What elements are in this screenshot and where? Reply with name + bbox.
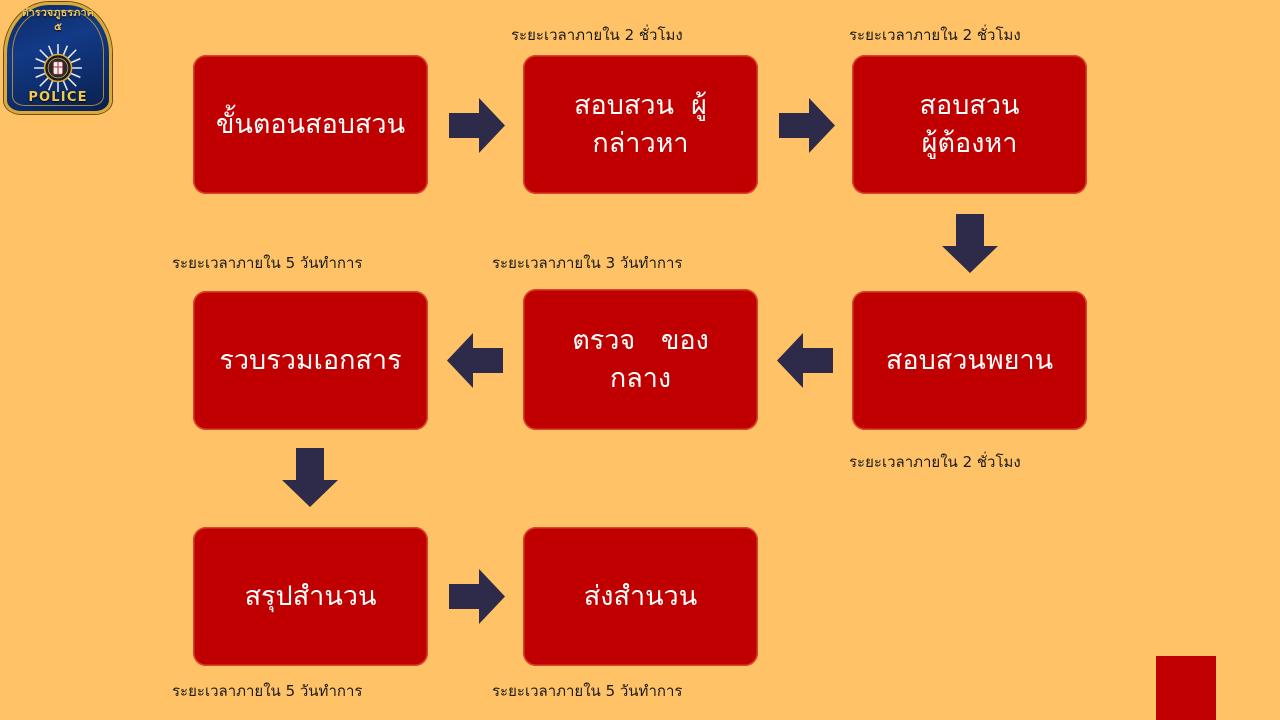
badge-arc-text: ตำรวจภูธรภาค — [4, 8, 112, 19]
arrow-down-icon-3 — [942, 214, 998, 273]
arrow-right-icon-1 — [449, 98, 505, 153]
arrow-left-icon-5 — [447, 333, 503, 388]
duration-label-documents: ระยะเวลาภายใน 5 วันทำการ — [172, 251, 362, 275]
duration-label-witness: ระยะเวลาภายใน 2 ชั่วโมง — [849, 450, 1021, 474]
process-box-collect-documents[interactable]: รวบรวมเอกสาร — [193, 291, 428, 430]
duration-label-suspect: ระยะเวลาภายใน 2 ชั่วโมง — [849, 23, 1021, 47]
arrow-down-icon-6 — [282, 448, 338, 507]
police-badge-logo: ตำรวจภูธรภาค ๕ POLICE — [4, 2, 112, 114]
process-box-label: สอบสวน ผู้กล่าวหา — [539, 87, 742, 162]
process-box-label: รวบรวมเอกสาร — [209, 342, 412, 379]
duration-label-submit: ระยะเวลาภายใน 5 วันทำการ — [492, 679, 682, 703]
process-box-label: สอบสวนผู้ต้องหา — [868, 87, 1071, 162]
process-box-label: สอบสวนพยาน — [868, 342, 1071, 379]
arrow-left-icon-4 — [777, 333, 833, 388]
process-box-interview-suspect[interactable]: สอบสวนผู้ต้องหา — [852, 55, 1087, 194]
decorative-corner-block — [1156, 656, 1216, 720]
process-box-investigation-process[interactable]: ขั้นตอนสอบสวน — [193, 55, 428, 194]
duration-label-accuser: ระยะเวลาภายใน 2 ชั่วโมง — [511, 23, 683, 47]
process-box-label: ส่งสำนวน — [539, 578, 742, 615]
process-box-interview-accuser[interactable]: สอบสวน ผู้กล่าวหา — [523, 55, 758, 194]
arrow-right-icon-7 — [449, 569, 505, 624]
arrow-right-icon-2 — [779, 98, 835, 153]
process-box-inspect-evidence[interactable]: ตรวจ ของกลาง — [523, 289, 758, 430]
badge-starburst-emblem-icon — [32, 42, 84, 94]
duration-label-summary: ระยะเวลาภายใน 5 วันทำการ — [172, 679, 362, 703]
slide-canvas: ตำรวจภูธรภาค ๕ POLICE ระยะเวลาภายใน 2 ชั… — [0, 0, 1280, 720]
process-box-submit-case-file[interactable]: ส่งสำนวน — [523, 527, 758, 666]
process-box-label: ตรวจ ของกลาง — [539, 322, 742, 397]
badge-region-numeral: ๕ — [4, 20, 112, 35]
process-box-summarize-case-file[interactable]: สรุปสำนวน — [193, 527, 428, 666]
process-box-label: สรุปสำนวน — [209, 578, 412, 615]
process-box-interview-witness[interactable]: สอบสวนพยาน — [852, 291, 1087, 430]
duration-label-evidence: ระยะเวลาภายใน 3 วันทำการ — [492, 251, 682, 275]
process-box-label: ขั้นตอนสอบสวน — [209, 106, 412, 143]
badge-police-word: POLICE — [4, 90, 112, 105]
